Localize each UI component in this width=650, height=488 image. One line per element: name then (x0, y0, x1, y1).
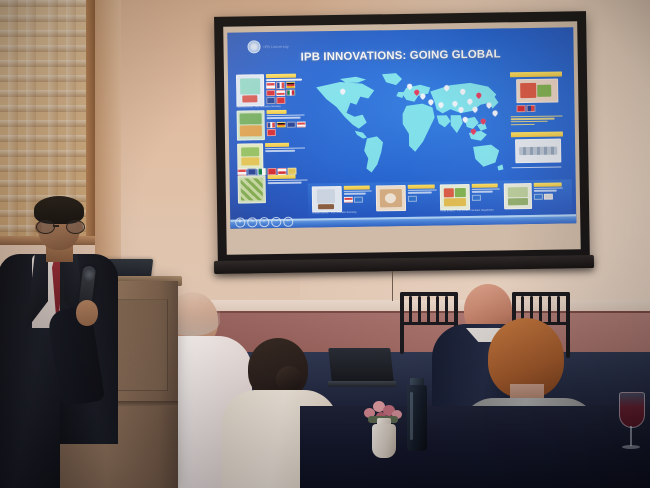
card-sub-line (533, 190, 556, 192)
map-pin (444, 85, 449, 92)
card-sub-line (266, 117, 300, 119)
magnifier-icon[interactable]: ⌕ (259, 217, 269, 227)
card-sub-line (265, 150, 295, 152)
card-bullet-lines (511, 115, 563, 126)
flag (276, 89, 285, 96)
map-pin (452, 101, 457, 108)
flag (266, 122, 275, 129)
eyeglasses (36, 220, 83, 232)
card-label-bar (265, 143, 289, 147)
card-flag-row (266, 121, 306, 136)
water-bottle-highlight (410, 392, 413, 440)
flower-vase (372, 424, 396, 458)
map-pin (476, 93, 481, 100)
card-thumbnail (516, 79, 558, 104)
card-thumbnail (237, 110, 265, 140)
flag (276, 82, 285, 89)
flag (266, 97, 275, 104)
zoom-out-icon[interactable]: − (271, 217, 281, 227)
flag (266, 129, 275, 136)
card-label-bar (267, 175, 295, 179)
card-flag-row (407, 195, 437, 202)
presenter-speaker (2, 196, 120, 488)
card-flag-row (343, 196, 373, 203)
projection-screen-surface: IPB University IPB INNOVATIONS: GOING GL… (223, 21, 581, 255)
card-thumbnail (504, 183, 532, 209)
laptop-base (328, 381, 397, 387)
laser-pointer-icon[interactable]: ✥ (235, 217, 245, 227)
card-label-bar (471, 184, 497, 188)
map-pin (428, 100, 433, 107)
flag (267, 168, 276, 175)
slide-card-bottom (312, 185, 374, 212)
card-flag-row (266, 82, 304, 104)
presenter-toolbar[interactable]: ✥ ✎ ⌕ − + (235, 217, 293, 227)
card-label-bar (533, 183, 561, 187)
flag (266, 82, 275, 89)
flag (543, 193, 552, 200)
wine-glass (618, 392, 644, 454)
hand (76, 300, 98, 326)
map-pin (407, 84, 412, 91)
card-sub-line (407, 189, 436, 191)
projection-screen: IPB University IPB INNOVATIONS: GOING GL… (214, 11, 590, 269)
flag (257, 168, 266, 175)
pen-icon[interactable]: ✎ (247, 217, 257, 227)
banquet-table-front (300, 406, 650, 488)
card-thumbnail (237, 143, 263, 169)
card-text (267, 174, 309, 203)
card-sub-line (343, 193, 365, 195)
flag (526, 105, 535, 112)
flag (276, 97, 285, 104)
world-map (310, 70, 504, 179)
slide-card-left (237, 142, 307, 169)
map-pin (438, 102, 443, 109)
card-sub-line (511, 166, 561, 168)
card-thumbnail (312, 186, 342, 212)
card-thumbnail (236, 74, 264, 106)
flag (276, 121, 285, 128)
card-text (343, 185, 373, 211)
card-label-bar (510, 71, 562, 77)
map-pin (414, 90, 419, 97)
map-pin (467, 99, 472, 106)
slide-card-left (236, 74, 304, 107)
flag (296, 121, 305, 128)
flag (286, 89, 295, 96)
flag (266, 90, 275, 97)
card-label-bar (343, 186, 369, 190)
flag (353, 196, 362, 203)
card-flag-row (516, 104, 568, 111)
map-pin (472, 107, 477, 114)
card-caption: Industry partner / IPB innovation licens… (236, 105, 280, 109)
card-text (407, 184, 437, 210)
slide-card-bottom (376, 184, 438, 211)
laptop-lid (328, 348, 394, 382)
slide-card-right (510, 71, 563, 125)
slide-card-left (238, 174, 310, 203)
map-pin (486, 103, 491, 110)
map-pin (463, 117, 468, 124)
flag (277, 168, 286, 175)
flag (343, 196, 352, 203)
logo-wordmark: IPB University (263, 44, 288, 48)
conference-presentation-photo: IPB University IPB INNOVATIONS: GOING GL… (0, 0, 650, 488)
wine-glass-bowl (619, 392, 645, 428)
map-pin (481, 119, 486, 126)
slide-card-bottom (504, 182, 564, 209)
card-sub-line (471, 191, 492, 193)
card-flag-row (471, 194, 501, 201)
map-pin (458, 107, 463, 114)
projection-screen-pull-cord (392, 271, 393, 301)
card-sub-line (471, 188, 499, 190)
flag (516, 105, 525, 112)
card-text (533, 182, 563, 208)
flag (237, 168, 246, 175)
card-sub-line (533, 187, 562, 189)
laptop-on-table (330, 348, 396, 390)
card-text (266, 110, 306, 141)
card-label-bar (511, 131, 563, 137)
card-label-bar (407, 184, 434, 188)
map-pin (493, 110, 498, 117)
flag (287, 168, 296, 175)
card-thumbnail (376, 185, 406, 211)
flag (533, 193, 542, 200)
flag (286, 82, 295, 89)
slide-card-right (511, 131, 564, 168)
card-sub-line (267, 182, 301, 184)
map-pin (340, 89, 345, 96)
card-thumbnail (238, 175, 266, 203)
map-pin (460, 89, 465, 96)
wine-glass-foot (622, 445, 640, 449)
map-pin (420, 94, 425, 101)
presentation-slide: IPB University IPB INNOVATIONS: GOING GL… (227, 27, 576, 228)
card-text (471, 183, 501, 209)
card-sub-line (343, 190, 371, 192)
card-sub-line (407, 192, 431, 194)
card-label-bar (266, 110, 286, 114)
zoom-in-icon[interactable]: + (283, 217, 293, 227)
card-thumbnail (515, 139, 561, 164)
hair-bun (276, 366, 302, 392)
slide-card-left (237, 110, 307, 141)
flag (247, 168, 256, 175)
card-text (265, 74, 303, 107)
slide-card-bottom (440, 183, 502, 210)
wine-glass-stem (630, 426, 632, 446)
flag (471, 194, 480, 201)
card-thumbnail (440, 184, 470, 210)
map-pin (471, 129, 476, 136)
card-text (265, 142, 307, 169)
card-flag-row (533, 193, 563, 200)
flag (407, 195, 416, 202)
card-label-bar (265, 74, 295, 78)
flag (286, 121, 295, 128)
card-caption: Export product (237, 138, 253, 141)
